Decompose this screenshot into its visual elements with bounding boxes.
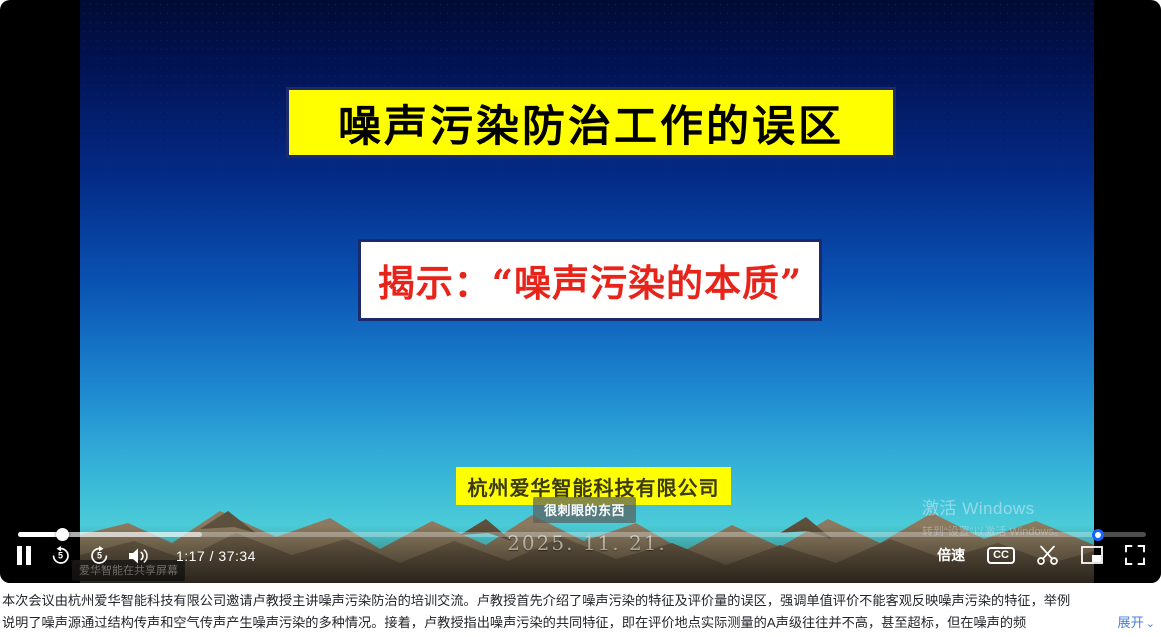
picture-in-picture-icon (1081, 546, 1103, 564)
pip-button[interactable] (1081, 546, 1103, 564)
progress-handle[interactable] (56, 528, 69, 541)
description-line-2: 说明了噪声源通过结构传声和空气传声产生噪声污染的多种情况。接着，卢教授指出噪声污… (2, 615, 1026, 630)
video-player[interactable]: 噪声污染防治工作的误区 揭示：“噪声污染的本质” 杭州爱华智能科技有限公司 很刺… (0, 0, 1161, 583)
description-line-2-wrap: 说明了噪声源通过结构传声和空气传声产生噪声污染的多种情况。接着，卢教授指出噪声污… (2, 612, 1161, 634)
pause-button[interactable] (16, 546, 32, 565)
slide-title-box: 噪声污染防治工作的误区 (286, 87, 896, 158)
slide-subtitle-box: 揭示：“噪声污染的本质” (358, 239, 822, 321)
rewind-button[interactable]: 5 (50, 545, 71, 566)
expand-description-button[interactable]: 展开⌄ (1117, 612, 1155, 634)
chevron-down-icon: ⌄ (1146, 618, 1155, 630)
rewind-seconds: 5 (58, 551, 63, 560)
rewind-5-icon: 5 (50, 545, 71, 566)
pause-icon (16, 546, 32, 565)
fullscreen-button[interactable] (1125, 545, 1145, 565)
clip-button[interactable] (1037, 545, 1059, 565)
forward-button[interactable]: 5 (89, 545, 110, 566)
video-page: 噪声污染防治工作的误区 揭示：“噪声污染的本质” 杭州爱华智能科技有限公司 很刺… (0, 0, 1161, 637)
forward-seconds: 5 (97, 551, 102, 560)
captions-button[interactable]: CC (987, 547, 1015, 564)
volume-icon (128, 547, 150, 565)
controls-right-group: 倍速 CC (937, 545, 1145, 565)
forward-5-icon: 5 (89, 545, 110, 566)
volume-button[interactable] (128, 547, 150, 565)
description-fade (1029, 612, 1109, 634)
speed-button[interactable]: 倍速 (937, 545, 965, 565)
presentation-slide: 噪声污染防治工作的误区 揭示：“噪声污染的本质” 杭州爱华智能科技有限公司 很刺… (80, 0, 1094, 583)
slide-subtitle: 揭示：“噪声污染的本质” (378, 253, 803, 307)
expand-label: 展开 (1117, 615, 1143, 630)
video-description: 本次会议由杭州爱华智能科技有限公司邀请卢教授主讲噪声污染防治的培训交流。卢教授首… (0, 588, 1161, 637)
controls-left-group: 5 5 (16, 545, 256, 566)
volume-slider[interactable] (1098, 532, 1146, 537)
time-display: 1:17 / 37:34 (176, 548, 256, 564)
fullscreen-icon (1125, 545, 1145, 565)
slide-title: 噪声污染防治工作的误区 (338, 92, 844, 154)
description-line-1: 本次会议由杭州爱华智能科技有限公司邀请卢教授主讲噪声污染防治的培训交流。卢教授首… (2, 590, 1161, 612)
progress-bar[interactable] (18, 532, 1101, 537)
player-controls: 5 5 (0, 525, 1161, 583)
danmaku-comment: 很刺眼的东西 (533, 497, 636, 523)
scissors-icon (1037, 545, 1059, 565)
volume-handle[interactable] (1092, 529, 1104, 541)
